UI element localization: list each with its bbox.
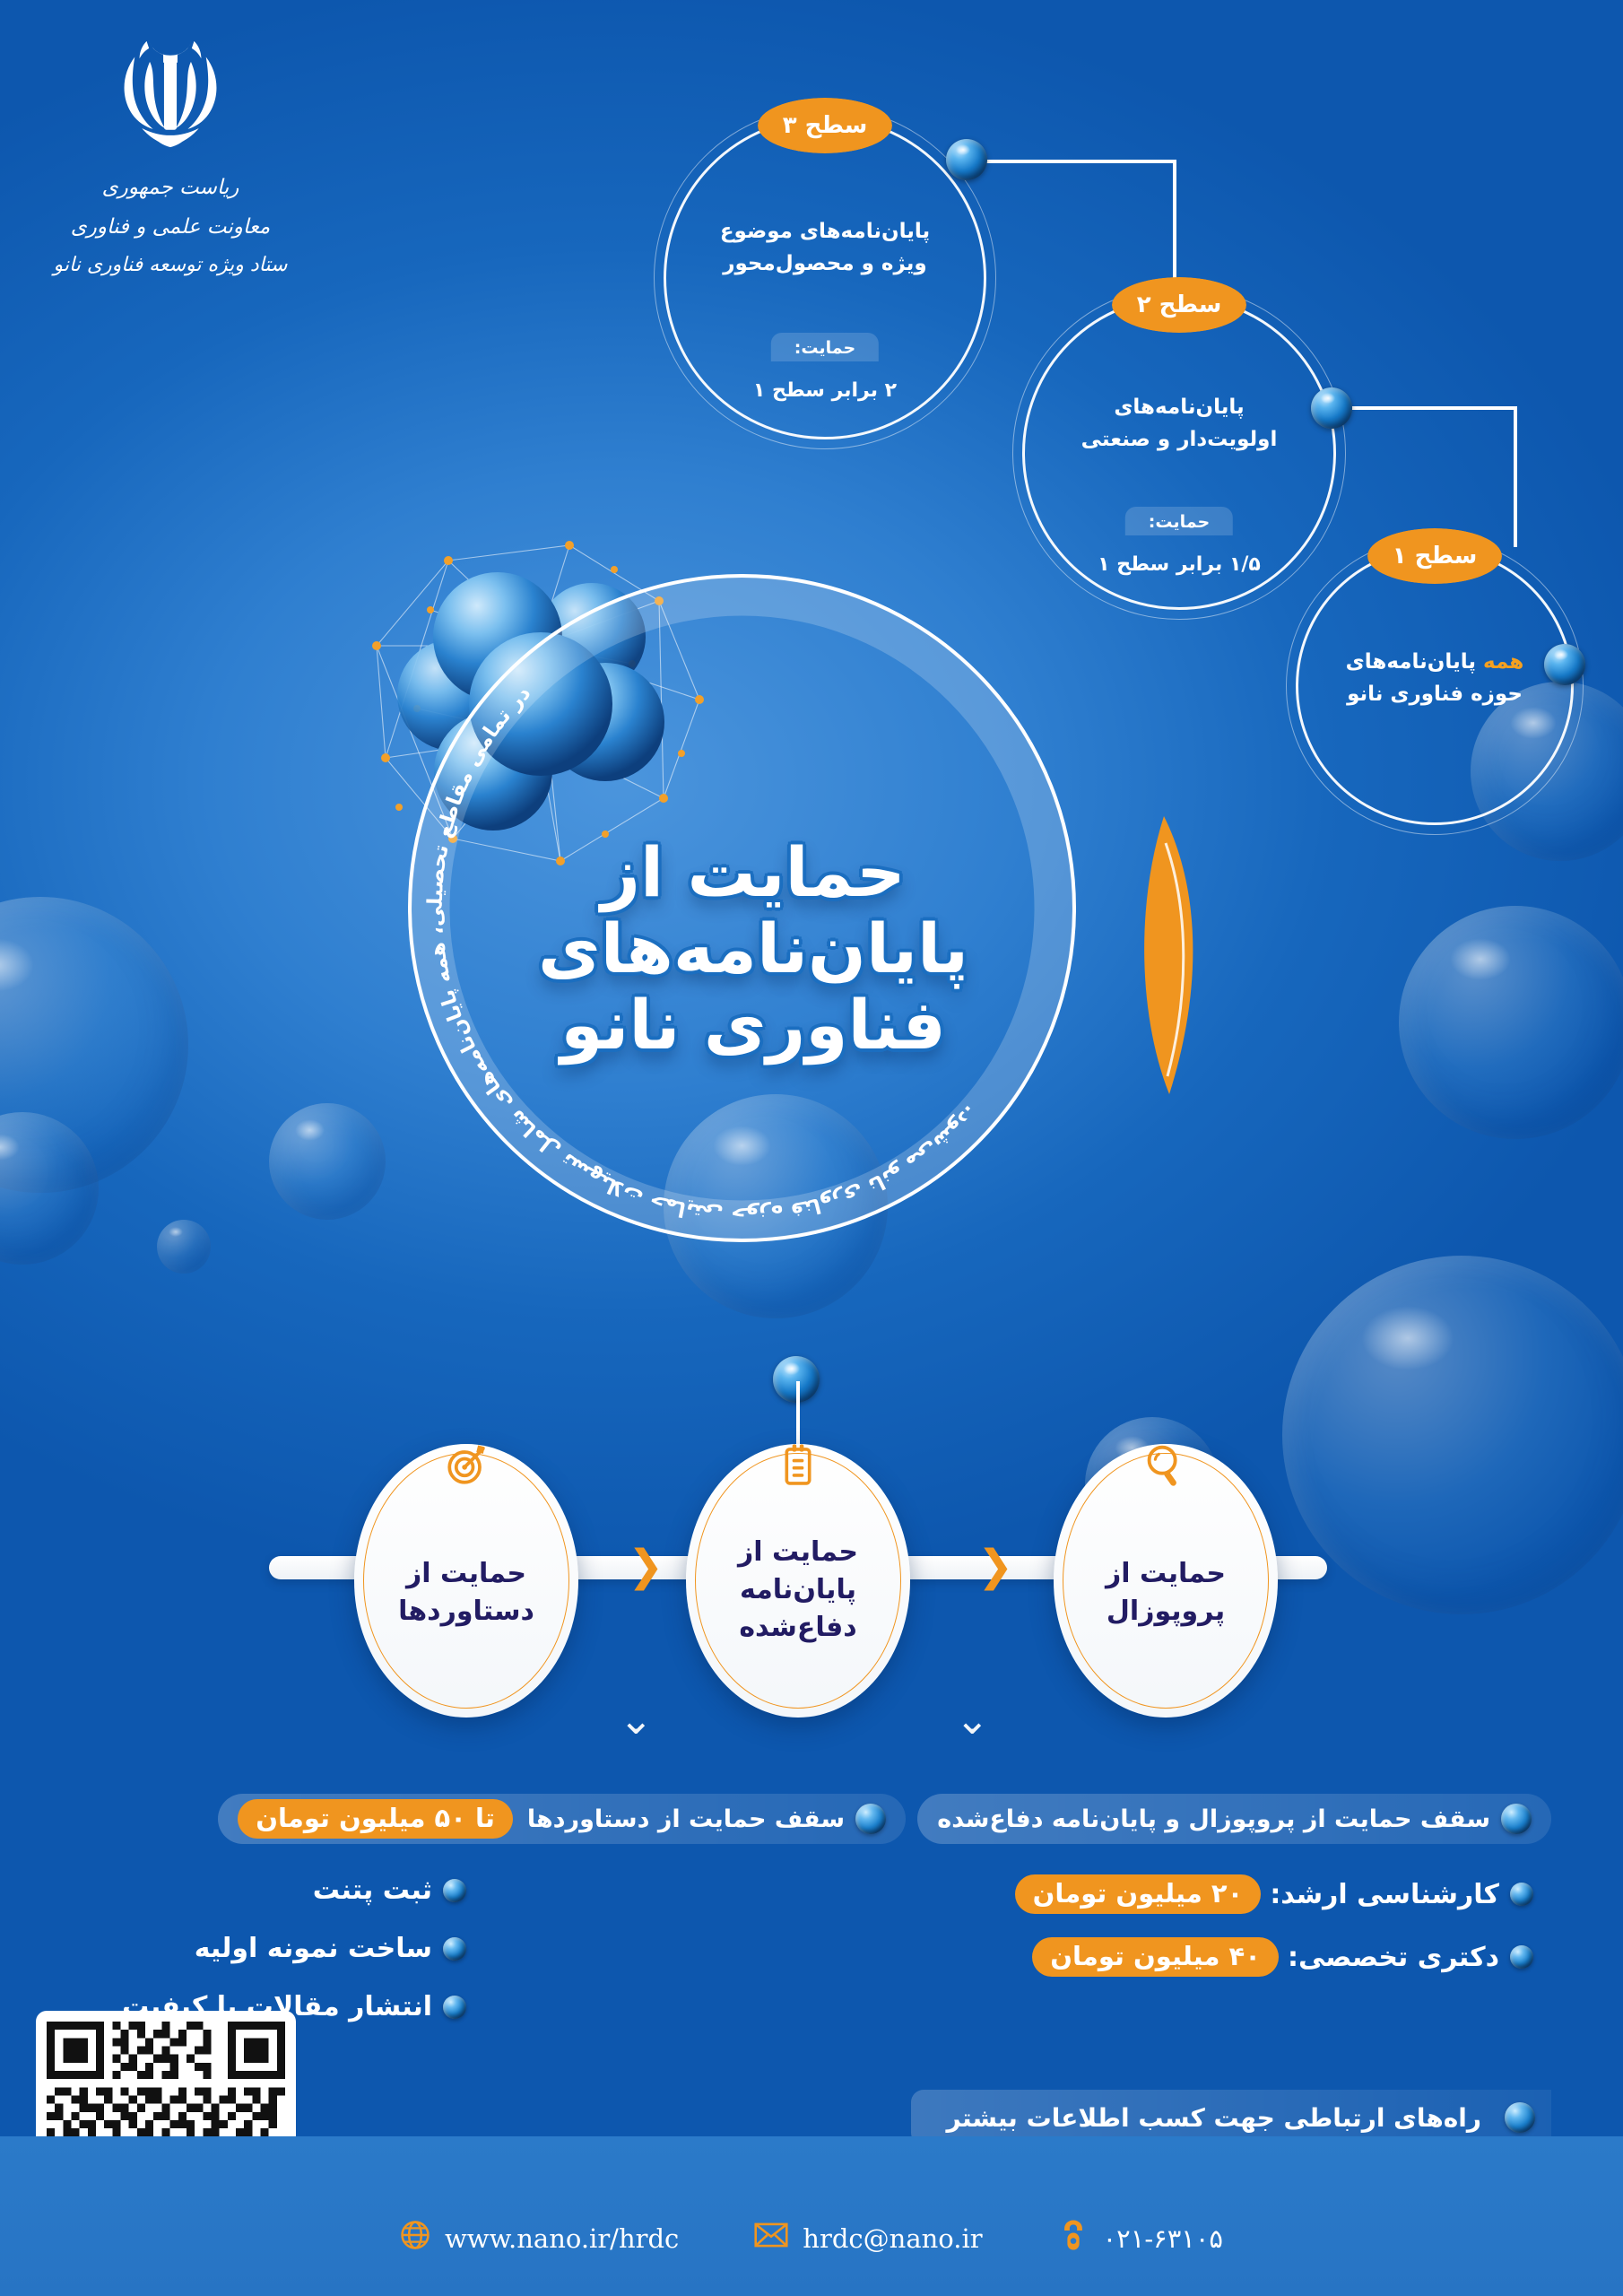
level-2-badge: سطح ۲ [1112,277,1246,333]
bullet-marble-icon [1505,2102,1535,2133]
decorative-bubble [0,1112,99,1265]
info-left-item-prototype: ساخت نمونه اولیه [195,1933,466,1964]
poster-canvas: ریاست جمهوری معاونت علمی و فناوری ستاد و… [0,0,1623,2296]
process-step-defended-label: حمایت از پایان‌نامه دفاع‌شده [738,1516,858,1647]
bullet-marble-icon [443,1879,466,1902]
process-step-proposal[interactable]: حمایت از پروپوزال [1054,1444,1278,1718]
level-3-support-value: ۲ برابر سطح ۱ [753,379,897,402]
process-defended-line3: دفاع‌شده [738,1609,858,1647]
ring-orange-marker [1103,807,1211,1112]
page-title-line3: فناوری نانو [502,987,1004,1063]
info-right-heading: سقف حمایت از پروپوزال و پایان‌نامه دفاع‌… [937,1805,1490,1833]
footer-contact-row: ۰۲۱-۶۳۱۰۵ hrdc@nano.ir [0,2218,1623,2258]
telephone-icon [1058,2218,1089,2258]
info-left-heading: سقف حمایت از دستاوردها [527,1805,845,1833]
info-left-amount: تا ۵۰ میلیون تومان [238,1799,513,1839]
footer-bar: ۰۲۱-۶۳۱۰۵ hrdc@nano.ir [0,2136,1623,2296]
decorative-bubble [1282,1256,1623,1614]
page-title-line2: پایان‌نامه‌های [502,910,1004,987]
info-left-item-0: ثبت پتنت [313,1874,432,1906]
process-defended-line1: حمایت از [738,1534,858,1571]
info-left-heading-bar: سقف حمایت از دستاوردها تا ۵۰ میلیون توما… [218,1794,906,1844]
down-arrow-right: ⌄ [955,1695,990,1744]
process-step-proposal-label: حمایت از پروپوزال [1106,1532,1226,1631]
bullet-marble-icon [855,1804,886,1834]
info-right-masters-amount: ۲۰ میلیون تومان [1015,1874,1262,1914]
process-proposal-line1: حمایت از [1106,1555,1226,1593]
bullet-marble-icon [443,1996,466,2019]
level-2-node [1311,387,1352,429]
bullet-marble-icon [1501,1804,1532,1834]
page-title: حمایت از پایان‌نامه‌های فناوری نانو [502,834,1004,1063]
process-arrow-right: ❮ [977,1541,1013,1591]
process-achievements-line1: حمایت از [398,1555,534,1593]
decorative-bubble [157,1220,211,1274]
info-right-item-phd: دکتری تخصصی: ۴۰ میلیون تومان [1032,1937,1533,1977]
globe-icon [400,2220,430,2257]
down-arrow-left: ⌄ [619,1695,654,1744]
info-left-item-patent: ثبت پتنت [313,1874,466,1906]
clipboard-icon [764,1431,832,1500]
bullet-marble-icon [443,1937,466,1961]
info-right-heading-bar: سقف حمایت از پروپوزال و پایان‌نامه دفاع‌… [917,1794,1551,1844]
process-step-achievements[interactable]: حمایت از دستاوردها [354,1444,578,1718]
contact-phone[interactable]: ۰۲۱-۶۳۱۰۵ [1058,2218,1223,2258]
process-step-defended-thesis[interactable]: حمایت از پایان‌نامه دفاع‌شده [686,1444,910,1718]
process-proposal-line2: پروپوزال [1106,1593,1226,1631]
info-right-phd-label: دکتری تخصصی: [1288,1942,1499,1973]
decorative-bubble [1399,906,1623,1139]
bullet-marble-icon [1510,1883,1533,1906]
contact-email-value: hrdc@nano.ir [803,2223,982,2254]
magnifier-icon [1132,1431,1200,1500]
info-right-phd-amount: ۴۰ میلیون تومان [1032,1937,1279,1977]
level-1-badge: سطح ۱ [1367,528,1502,584]
process-arrow-left: ❮ [628,1541,664,1591]
info-right-item-masters: کارشناسی ارشد: ۲۰ میلیون تومان [1015,1874,1533,1914]
bullet-marble-icon [1510,1945,1533,1969]
level-3-support-label: حمایت: [771,333,879,361]
level-1-node [1544,644,1585,685]
contact-website[interactable]: www.nano.ir/hrdc [400,2220,679,2257]
level-1-circle[interactable]: سطح ۱ همه پایان‌نامه‌های حوزه فناوری نان… [1296,547,1574,825]
level-3-circle[interactable]: سطح ۳ پایان‌نامه‌های موضوع ویژه و محصول‌… [664,117,986,439]
decorative-bubble [269,1103,386,1220]
info-left-item-1: ساخت نمونه اولیه [195,1933,432,1964]
decorative-bubble [0,897,188,1193]
process-defended-line2: پایان‌نامه [738,1571,858,1609]
contact-phone-value: ۰۲۱-۶۳۱۰۵ [1103,2223,1223,2254]
contact-email[interactable]: hrdc@nano.ir [754,2222,982,2254]
process-step-achievements-label: حمایت از دستاوردها [398,1532,534,1631]
process-achievements-line2: دستاوردها [398,1593,534,1631]
level-3-node [946,139,987,180]
contact-website-value: www.nano.ir/hrdc [445,2223,679,2254]
level-2-support-value: ۱/۵ برابر سطح ۱ [1098,553,1261,576]
contact-heading: راه‌های ارتباطی جهت کسب اطلاعات بیشتر [947,2103,1481,2133]
info-right-masters-label: کارشناسی ارشد: [1270,1879,1499,1910]
target-icon [432,1431,500,1500]
level-2-support-label: حمایت: [1125,507,1233,535]
level-3-badge: سطح ۳ [758,98,892,153]
page-title-line1: حمایت از [502,834,1004,910]
envelope-icon [754,2222,788,2254]
